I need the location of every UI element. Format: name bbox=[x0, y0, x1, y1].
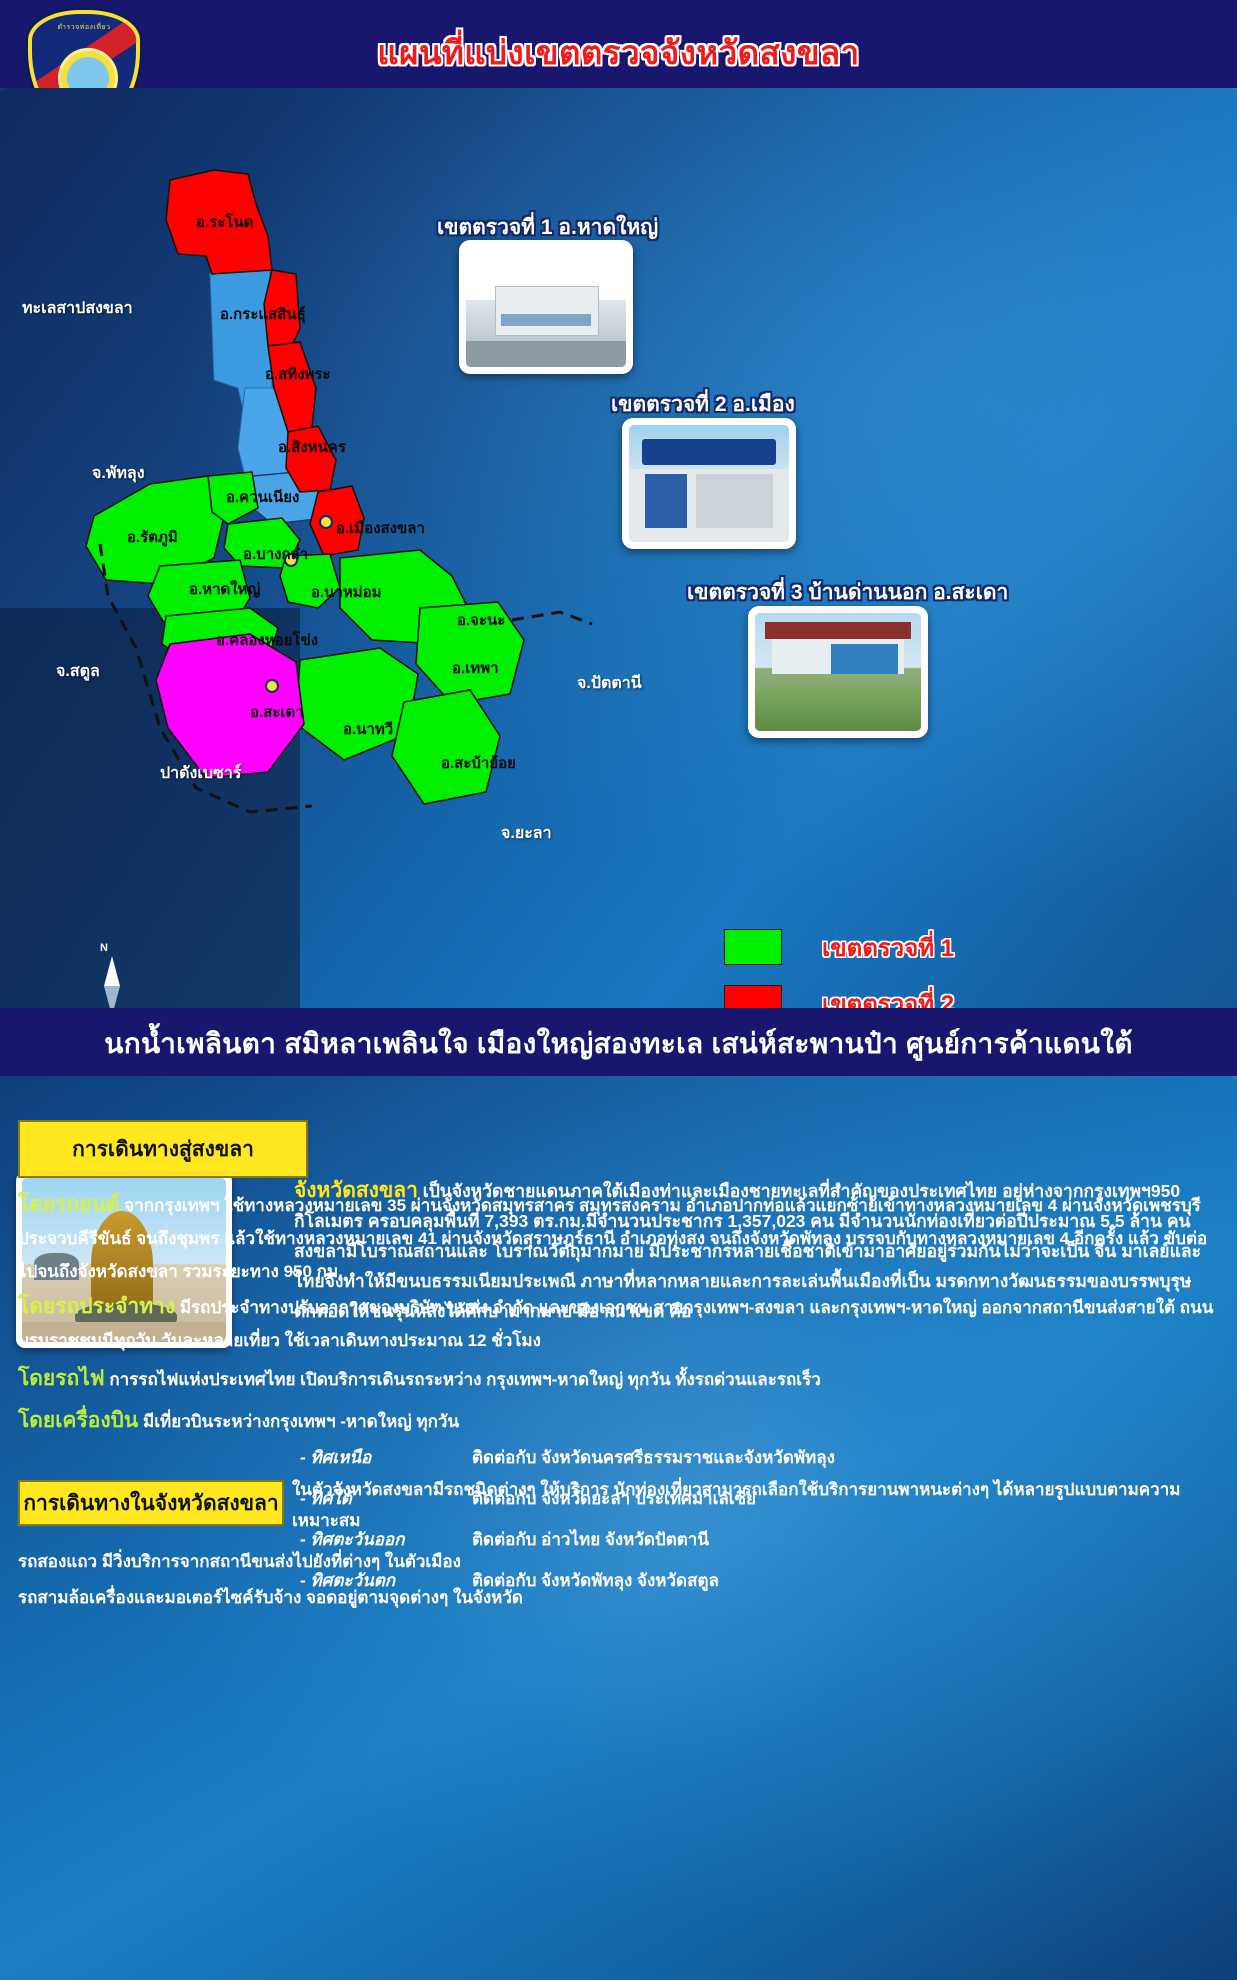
neighbor-label: จ.ปัตตานี bbox=[577, 671, 642, 696]
district-label: อ.ควนเนียง bbox=[226, 485, 299, 509]
header-bar: ตำรวจท่องเที่ยว TOURIST POLICE แผนที่แบ่… bbox=[0, 0, 1237, 88]
district-label: อ.รัตภูมิ bbox=[127, 525, 178, 549]
photo-zone2-mueang bbox=[622, 418, 796, 549]
travel-mode-bus: โดยรถประจำทาง bbox=[18, 1295, 175, 1318]
travel-by-plane: โดยเครื่องบิน มีเที่ยวบินระหว่างกรุงเทพฯ… bbox=[18, 1404, 1222, 1438]
travel-text-train: การรถไฟแห่งประเทศไทย เปิดบริการเดินรถระห… bbox=[109, 1370, 820, 1389]
neighbor-label: จ.พัทลุง bbox=[92, 461, 145, 486]
neighbor-label: ทะเลสาปสงขลา bbox=[22, 296, 133, 321]
police-station-marker-mueang bbox=[320, 516, 332, 528]
district-label: อ.กระแสสินธุ์ bbox=[220, 302, 306, 326]
neighbor-label: ปาดังเบซาร์ bbox=[160, 761, 241, 786]
legend-label-zone2: เขตตรวจที่ 2 bbox=[822, 984, 954, 1009]
province-slogan: นกน้ำเพลินตา สมิหลาเพลินใจ เมืองใหญ่สองท… bbox=[0, 1022, 1237, 1066]
travel-in-heading: การเดินทางในจังหวัดสงขลา bbox=[23, 1487, 278, 1520]
travel-by-bus: โดยรถประจำทาง มีรถประจำทางปรับอากาศของบร… bbox=[18, 1290, 1222, 1357]
travel-text-bus: มีรถประจำทางปรับอากาศของบริษัท ขนส่ง จำก… bbox=[18, 1298, 1213, 1350]
photo-zone3-dannok bbox=[748, 606, 928, 738]
travel-to-heading-box: การเดินทางสู่สงขลา bbox=[18, 1120, 308, 1178]
pattani-border-dashed bbox=[512, 612, 592, 624]
district-label: อ.หาดใหญ่ bbox=[189, 577, 260, 601]
compass-rose-icon: N bbox=[92, 956, 126, 1008]
travel-in-lead: ในตัวจังหวัดสงขลามีรถชนิดต่างๆ ให้บริการ… bbox=[292, 1474, 1222, 1536]
photo-zone1-hatyai bbox=[459, 240, 633, 374]
travel-in-tuktuk: รถสามล้อเครื่องและมอเตอร์ไซค์รับจ้าง จอด… bbox=[18, 1584, 523, 1611]
district-label: อ.สทิงพระ bbox=[265, 362, 331, 386]
legend-label-zone1: เขตตรวจที่ 1 bbox=[822, 928, 954, 967]
travel-by-train: โดยรถไฟ การรถไฟแห่งประเทศไทย เปิดบริการเ… bbox=[18, 1362, 1222, 1396]
travel-mode-train: โดยรถไฟ bbox=[18, 1367, 105, 1390]
legend-item-zone1: เขตตรวจที่ 1 bbox=[724, 924, 954, 970]
travel-in-mode-tuktuk: รถสามล้อเครื่องและมอเตอร์ไซค์รับจ้าง bbox=[18, 1588, 301, 1607]
travel-in-text-tuktuk: จอดอยู่ตามจุดต่างๆ ในจังหวัด bbox=[306, 1588, 523, 1607]
district-label: อ.นาทวี bbox=[343, 717, 393, 741]
travel-in-heading-box: การเดินทางในจังหวัดสงขลา bbox=[18, 1480, 284, 1526]
district-label: อ.บางกล่ำ bbox=[243, 542, 308, 566]
legend-swatch-zone2 bbox=[724, 985, 782, 1008]
travel-text-car: จากกรุงเทพฯ ใช้ทางหลวงหมายเลข 35 ผ่านจัง… bbox=[18, 1196, 1207, 1281]
district-label: อ.คลองหอยโข่ง bbox=[216, 628, 318, 652]
page-title: แผนที่แบ่งเขตตรวจจังหวัดสงขลา bbox=[0, 26, 1237, 79]
district-label: อ.สิงหนคร bbox=[278, 435, 346, 459]
district-label: อ.ระโนด bbox=[196, 210, 253, 234]
police-station-marker-sadao bbox=[266, 680, 278, 692]
travel-by-car: โดยรถยนต์ จากกรุงเทพฯ ใช้ทางหลวงหมายเลข … bbox=[18, 1188, 1222, 1288]
boundary-direction: - ทิศเหนือ bbox=[300, 1444, 472, 1471]
legend-swatch-zone1 bbox=[724, 929, 782, 965]
district-saba-yoi bbox=[392, 690, 500, 804]
infographic-page: ตำรวจท่องเที่ยว TOURIST POLICE แผนที่แบ่… bbox=[0, 0, 1237, 1980]
legend-item-zone2: เขตตรวจที่ 2 bbox=[724, 980, 954, 1008]
travel-in-songthaew: รถสองแถว มีวิ่งบริการจากสถานีขนส่งไปยังท… bbox=[18, 1548, 461, 1575]
district-label: อ.นาหม่อม bbox=[311, 580, 382, 604]
travel-in-mode-songthaew: รถสองแถว bbox=[18, 1552, 97, 1571]
district-label: อ.เทพา bbox=[452, 656, 499, 680]
compass-north-label: N bbox=[100, 942, 108, 954]
neighbor-label: จ.สตูล bbox=[56, 659, 100, 684]
slogan-bar: นกน้ำเพลินตา สมิหลาเพลินใจ เมืองใหญ่สองท… bbox=[0, 1008, 1237, 1076]
photo-caption-zone2: เขตตรวจที่ 2 อ.เมือง bbox=[611, 388, 795, 421]
district-label: อ.สะบ้าย้อย bbox=[441, 751, 516, 775]
travel-text-plane: มีเที่ยวบินระหว่างกรุงเทพฯ -หาดใหญ่ ทุกว… bbox=[143, 1412, 459, 1431]
district-label: อ.สะเดา bbox=[250, 700, 304, 724]
boundary-row: - ทิศเหนือ ติดต่อกับ จังหวัดนครศรีธรรมรา… bbox=[300, 1444, 835, 1471]
photo-caption-zone3: เขตตรวจที่ 3 บ้านด่านนอก อ.สะเดา bbox=[687, 576, 1008, 609]
travel-mode-plane: โดยเครื่องบิน bbox=[18, 1409, 138, 1432]
map-panel: อ.ระโนด อ.กระแสสินธุ์ อ.สทิงพระ อ.สิงหนค… bbox=[0, 88, 1237, 1008]
district-label: อ.จะนะ bbox=[457, 608, 505, 632]
travel-in-text-songthaew: มีวิ่งบริการจากสถานีขนส่งไปยังที่ต่างๆ ใ… bbox=[102, 1552, 461, 1571]
boundary-value: ติดต่อกับ จังหวัดนครศรีธรรมราชและจังหวัด… bbox=[472, 1444, 835, 1471]
district-label: อ.เมืองสงขลา bbox=[336, 516, 425, 540]
map-legend: เขตตรวจที่ 1 เขตตรวจที่ 2 เขตตรวจที่ 3 bbox=[724, 924, 954, 1008]
travel-to-heading: การเดินทางสู่สงขลา bbox=[72, 1133, 254, 1166]
travel-mode-car: โดยรถยนต์ bbox=[18, 1193, 120, 1216]
neighbor-label: จ.ยะลา bbox=[501, 821, 552, 846]
